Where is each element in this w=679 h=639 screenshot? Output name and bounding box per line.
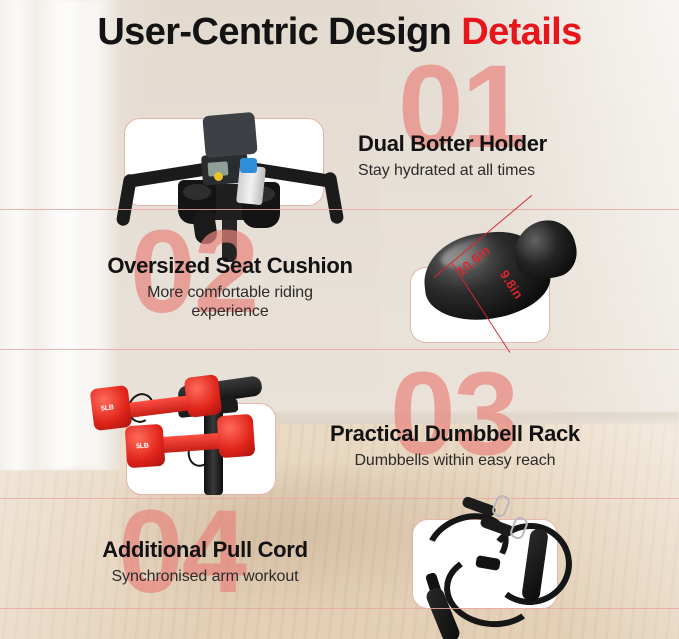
- divider-2: [0, 349, 679, 350]
- feature-heading-01: Dual Botter Holder: [358, 131, 547, 157]
- feature-row-01: 01 Dual Botter Holder Stay hydrated at a…: [0, 56, 679, 209]
- feature-heading-04: Additional Pull Cord: [60, 537, 350, 563]
- feature-row-03: 03 5LB 5LB Practical Dumbbell Rack Dumbb…: [0, 355, 679, 498]
- feature-row-02: 02 10.6in 9.8in Oversized Seat Cushion M…: [0, 215, 679, 349]
- feature-text-04: Additional Pull Cord Synchronised arm wo…: [60, 537, 350, 586]
- feature-text-03: Practical Dumbbell Rack Dumbbells within…: [330, 421, 580, 470]
- feature-subtext-02-line1: More comfortable riding: [80, 284, 380, 302]
- tablet-holder-console: [202, 112, 257, 158]
- divider-4: [0, 608, 679, 609]
- yellow-knob: [214, 172, 223, 181]
- feature-subtext-02-line2: experience: [80, 303, 380, 321]
- feature-subtext-03: Dumbbells within easy reach: [330, 452, 580, 470]
- divider-1: [0, 209, 679, 210]
- dumbbell-upper-weight-label: 5LB: [100, 400, 114, 413]
- weight-unit-upper: LB: [104, 404, 114, 412]
- carabiner-clip-upper: [490, 493, 511, 519]
- bottle-holder-left-opening: [183, 184, 211, 200]
- dumbbell-lower-head-right: [217, 414, 256, 458]
- weight-unit-lower: LB: [140, 443, 149, 451]
- feature-subtext-01: Stay hydrated at all times: [358, 162, 547, 180]
- page-title: User-Centric Design Details: [0, 11, 679, 54]
- feature-text-01: Dual Botter Holder Stay hydrated at all …: [358, 131, 547, 180]
- water-bottle-cap: [240, 158, 257, 173]
- feature-heading-03: Practical Dumbbell Rack: [330, 421, 580, 447]
- feature-subtext-04: Synchronised arm workout: [60, 568, 350, 586]
- dumbbell-upper-head-right: [184, 374, 223, 418]
- dumbbell-rack-photo: 5LB 5LB: [82, 363, 332, 493]
- pull-cord-photo: [410, 495, 580, 635]
- feature-row-04: 04 Additional Pull Cord Synchronised arm…: [0, 495, 679, 639]
- feature-heading-02: Oversized Seat Cushion: [80, 253, 380, 279]
- dumbbell-lower-weight-label: 5LB: [136, 439, 149, 452]
- bike-seat-photo: 10.6in 9.8in: [418, 215, 578, 335]
- feature-text-02: Oversized Seat Cushion More comfortable …: [80, 253, 380, 321]
